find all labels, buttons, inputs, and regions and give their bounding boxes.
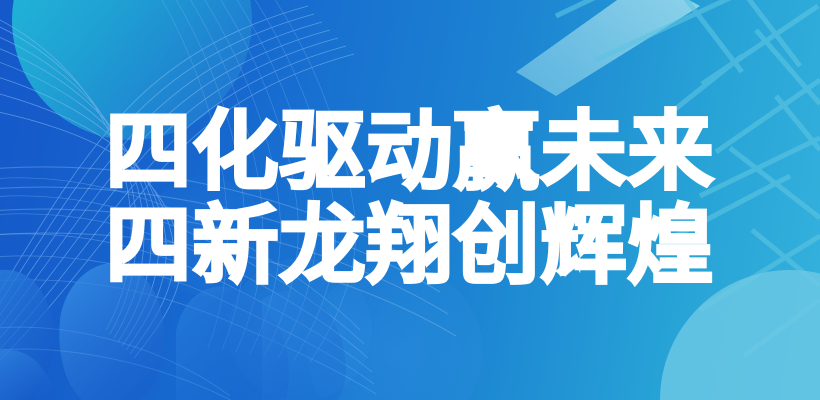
slogan-line-1: 四化驱动赢未来 <box>106 109 715 197</box>
slogan-line-2: 四新龙翔创辉煌 <box>106 203 715 291</box>
slogan-text-block: 四化驱动赢未来 四新龙翔创辉煌 <box>0 0 820 400</box>
promotional-banner: 四化驱动赢未来 四新龙翔创辉煌 <box>0 0 820 400</box>
